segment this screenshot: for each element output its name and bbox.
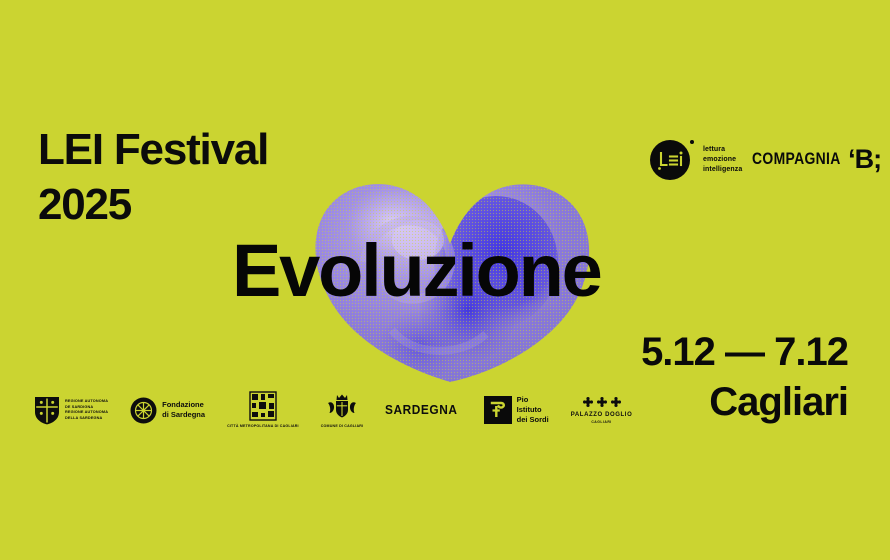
festival-poster: LEI Festival 2025 Evoluzione 5.12 — 7.12… [0,0,890,560]
compagnia-wordmark: COMPAGNIA [752,148,841,171]
fondazione-sardegna-label: Fondazione di Sardegna [162,400,205,420]
sponsor-regione-sardegna: REGIONE AUTONOMA DE SARDIGNA REGIONE AUT… [34,388,108,432]
city-name: Cagliari [641,382,848,422]
sponsor-comune-di-cagliari: COMUNE DI CAGLIARI [321,388,364,432]
fondazione-sardegna-circle-icon [130,397,157,424]
lei-brand-lockup: lettura emozione intelligenza [650,137,742,183]
palazzo-doglio-rosette-icon [582,396,622,408]
pio-istituto-mark-icon [484,396,512,424]
headline-evoluzione: Evoluzione [232,234,601,308]
comune-cagliari-crest-icon [325,391,359,421]
title-line-1: LEI Festival [38,128,268,172]
compagnia-b-logo: COMPAGNIA ‘B; [752,148,881,171]
sponsor-palazzo-doglio: PALAZZO DOGLIO CAGLIARI [571,388,633,432]
lei-tagline: lettura emozione intelligenza [703,145,742,175]
sponsor-fondazione-di-sardegna: Fondazione di Sardegna [130,388,205,432]
palazzo-doglio-label: PALAZZO DOGLIO [571,412,633,418]
page-title: LEI Festival 2025 [38,128,268,227]
sponsor-logo-strip: REGIONE AUTONOMA DE SARDIGNA REGIONE AUT… [34,388,632,432]
title-line-2: 2025 [38,183,268,227]
citta-metropolitana-grid-icon [249,391,277,421]
pio-istituto-label: Pio Istituto dei Sordi [517,395,549,424]
pio-istituto-glyph-icon [487,399,509,421]
date-range: 5.12 — 7.12 [641,332,848,372]
compagnia-b-glyph: ‘B; [848,148,881,171]
regione-sardegna-label: REGIONE AUTONOMA DE SARDIGNA REGIONE AUT… [65,399,108,421]
sponsor-pio-istituto-dei-sordi: Pio Istituto dei Sordi [484,388,549,432]
citta-metropolitana-label: CITTÀ METROPOLITANA DI CAGLIARI [227,424,299,428]
sponsor-citta-metropolitana-cagliari: CITTÀ METROPOLITANA DI CAGLIARI [227,388,299,432]
lei-tagline-line-3: intelligenza [703,165,742,175]
lei-logo-dot-icon [690,140,694,144]
lei-logo-glyph-icon [650,140,690,180]
regione-sardegna-shield-icon [34,395,60,425]
palazzo-doglio-city: CAGLIARI [591,420,611,424]
sardegna-wordmark: SARDEGNA [385,403,458,417]
comune-cagliari-label: COMUNE DI CAGLIARI [321,424,364,428]
lei-tagline-line-1: lettura [703,145,742,155]
sponsor-sardegna: SARDEGNA [385,388,461,432]
dates-and-city: 5.12 — 7.12 Cagliari [641,332,848,422]
lei-logo-icon [650,137,696,183]
lei-tagline-line-2: emozione [703,155,742,165]
